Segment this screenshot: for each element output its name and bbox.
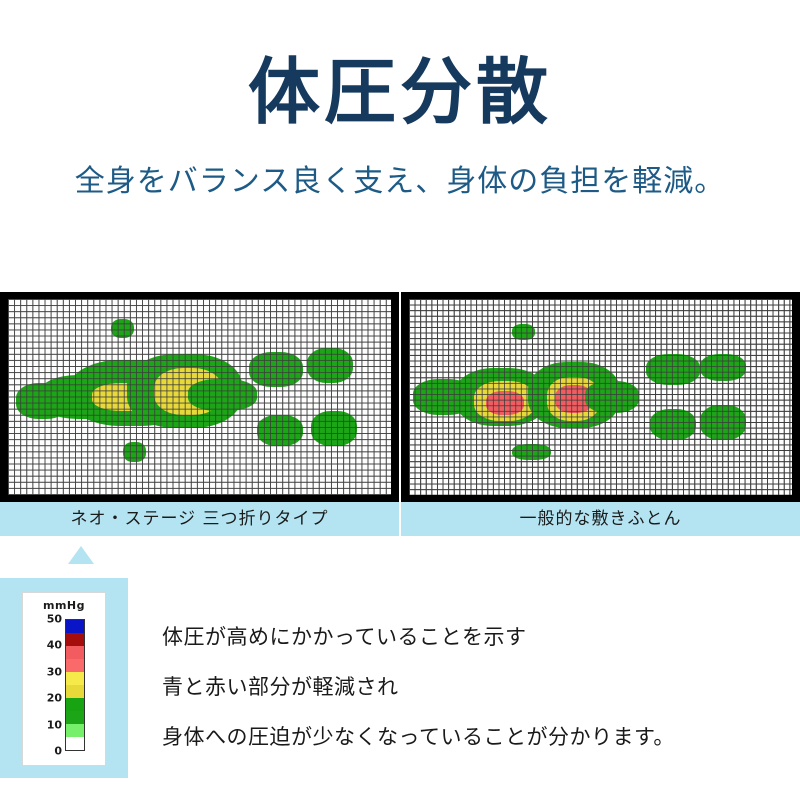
pressure-blob	[585, 381, 639, 412]
legend-unit-label: mmHg	[23, 599, 105, 612]
legend-color-scale	[65, 619, 85, 751]
legend-tick-40: 40	[40, 639, 62, 652]
pressure-blob	[486, 391, 524, 415]
pressure-blobs-left	[8, 299, 391, 495]
page-header: 体圧分散 全身をバランス良く支え、身体の負担を軽減。	[0, 0, 800, 290]
page-title: 体圧分散	[0, 52, 800, 132]
pressure-blob	[512, 444, 550, 460]
caption-neo-stage: ネオ・ステージ 三つ折りタイプ	[0, 502, 399, 536]
legend-tick-30: 30	[40, 665, 62, 678]
legend-card: mmHg 50403020100	[22, 592, 106, 766]
description-text-block: 体圧が高めにかかっていることを示す 青と赤い部分が軽減され 身体への圧迫が少なく…	[162, 612, 762, 762]
pressure-blobs-right	[409, 299, 792, 495]
legend-tick-0: 0	[40, 745, 62, 758]
legend-band	[66, 633, 84, 646]
pressure-blob	[111, 319, 134, 339]
pressure-blob	[257, 415, 303, 446]
pressure-blob	[512, 324, 535, 340]
legend-band	[66, 724, 84, 737]
page-subtitle: 全身をバランス良く支え、身体の負担を軽減。	[0, 162, 800, 202]
legend-band	[66, 646, 84, 659]
pressure-blob	[650, 409, 696, 440]
legend-tick-10: 10	[40, 718, 62, 731]
description-line-2: 青と赤い部分が軽減され	[162, 662, 762, 712]
comparison-panel-left: ネオ・ステージ 三つ折りタイプ	[0, 292, 399, 538]
pressure-map-comparison: ネオ・ステージ 三つ折りタイプ 一般的な敷きふとん	[0, 292, 800, 538]
legend-band	[66, 711, 84, 724]
legend-band	[66, 737, 84, 750]
pressure-blob	[311, 411, 357, 446]
pressure-map-neo-stage	[0, 292, 399, 502]
legend-tick-20: 20	[40, 692, 62, 705]
pressure-map-standard-futon	[401, 292, 800, 502]
legend-pointer-triangle-icon	[68, 546, 94, 564]
pressure-blob	[700, 354, 746, 381]
description-line-1: 体圧が高めにかかっていることを示す	[162, 612, 762, 662]
description-line-3: 身体への圧迫が少なくなっていることが分かります。	[162, 712, 762, 762]
pressure-blob	[307, 348, 353, 383]
pressure-blob	[249, 352, 303, 387]
legend-tick-50: 50	[40, 613, 62, 626]
legend-band	[66, 620, 84, 633]
comparison-panel-right: 一般的な敷きふとん	[401, 292, 800, 538]
legend-band	[66, 659, 84, 672]
pressure-blob	[646, 354, 700, 385]
legend-band	[66, 698, 84, 711]
legend-band	[66, 685, 84, 698]
pressure-grid-right	[409, 299, 792, 495]
legend-and-description: mmHg 50403020100 体圧が高めにかかっていることを示す 青と赤い部…	[0, 546, 800, 800]
pressure-blob	[700, 405, 746, 440]
pressure-grid-left	[8, 299, 391, 495]
pressure-blob	[188, 379, 257, 410]
legend-band	[66, 672, 84, 685]
pressure-blob	[123, 442, 146, 462]
caption-standard-futon: 一般的な敷きふとん	[401, 502, 800, 536]
legend-panel: mmHg 50403020100	[0, 578, 128, 778]
